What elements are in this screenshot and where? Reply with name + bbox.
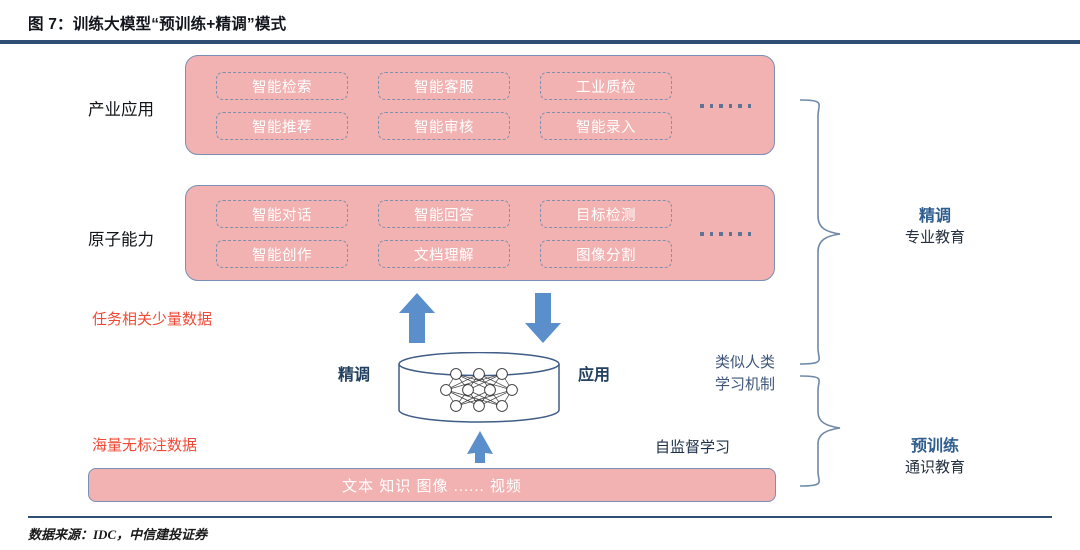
side-note-finetune-sub: 专业教育 xyxy=(880,228,990,248)
arrow-up-icon xyxy=(398,292,436,344)
arrow-up-small-icon xyxy=(466,430,494,464)
row-label-industry: 产业应用 xyxy=(88,96,154,120)
industry-application-panel: 智能检索 智能客服 工业质检 智能推荐 智能审核 智能录入 xyxy=(185,55,775,155)
chip-industry-6[interactable]: 智能录入 xyxy=(540,112,672,140)
header-rule xyxy=(0,40,1080,44)
side-note-pretrain-sub: 通识教育 xyxy=(880,458,990,478)
annotation-self-supervised: 自监督学习 xyxy=(655,436,730,457)
cylinder-label-apply: 应用 xyxy=(578,361,610,385)
chip-atomic-6[interactable]: 图像分割 xyxy=(540,240,672,268)
side-note-pretrain-title: 预训练 xyxy=(880,436,990,458)
ellipsis-atomic xyxy=(700,232,751,236)
arrow-down-icon xyxy=(524,292,562,344)
chip-atomic-1[interactable]: 智能对话 xyxy=(216,200,348,228)
side-note-finetune: 精调 专业教育 xyxy=(880,206,990,248)
chip-atomic-4[interactable]: 智能创作 xyxy=(216,240,348,268)
side-note-pretrain: 预训练 通识教育 xyxy=(880,436,990,478)
model-cylinder xyxy=(396,352,562,424)
source-note: 数据来源：IDC，中信建投证券 xyxy=(28,524,207,543)
annotation-human-like-line2: 学习机制 xyxy=(690,374,800,396)
raw-data-bar: 文本 知识 图像 ...... 视频 xyxy=(88,468,776,502)
row-label-atomic: 原子能力 xyxy=(88,226,154,250)
footer-rule xyxy=(28,516,1052,518)
chip-atomic-2[interactable]: 智能回答 xyxy=(378,200,510,228)
annotation-human-like: 类似人类 学习机制 xyxy=(690,352,800,396)
chip-industry-4[interactable]: 智能推荐 xyxy=(216,112,348,140)
side-note-finetune-title: 精调 xyxy=(880,206,990,228)
chip-industry-3[interactable]: 工业质检 xyxy=(540,72,672,100)
chip-industry-2[interactable]: 智能客服 xyxy=(378,72,510,100)
figure-canvas: 图 7：训练大模型“预训练+精调”模式 产业应用 原子能力 智能检索 智能客服 … xyxy=(0,0,1080,550)
atomic-capability-panel: 智能对话 智能回答 目标检测 智能创作 文档理解 图像分割 xyxy=(185,185,775,281)
chip-atomic-5[interactable]: 文档理解 xyxy=(378,240,510,268)
chip-atomic-3[interactable]: 目标检测 xyxy=(540,200,672,228)
annotation-human-like-line1: 类似人类 xyxy=(690,352,800,374)
chip-industry-5[interactable]: 智能审核 xyxy=(378,112,510,140)
page-title: 图 7：训练大模型“预训练+精调”模式 xyxy=(28,12,286,34)
ellipsis-industry xyxy=(700,104,751,108)
annotation-task-data: 任务相关少量数据 xyxy=(92,308,212,329)
annotation-mass-data: 海量无标注数据 xyxy=(92,434,197,455)
cylinder-label-finetune: 精调 xyxy=(338,361,370,385)
chip-industry-1[interactable]: 智能检索 xyxy=(216,72,348,100)
